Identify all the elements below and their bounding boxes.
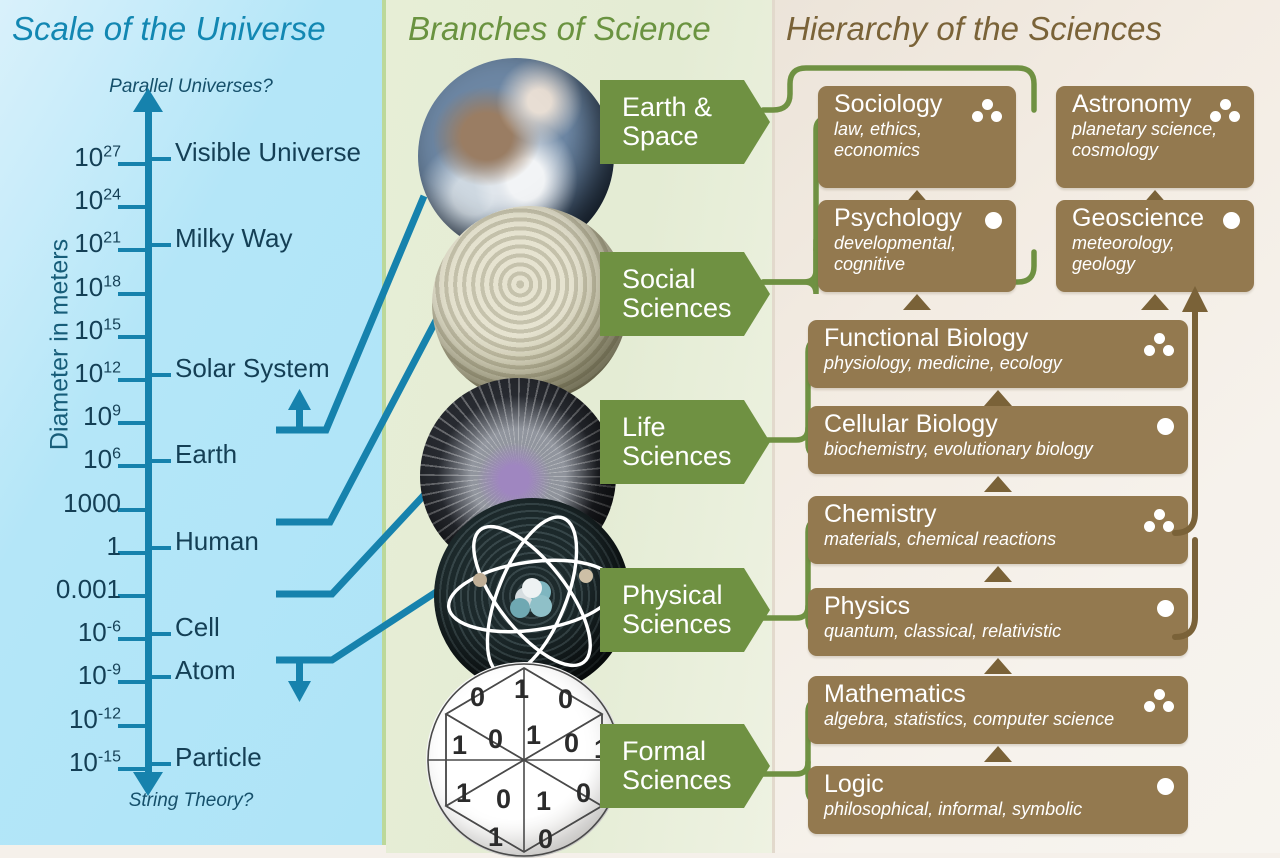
svg-text:0: 0 — [564, 728, 579, 758]
svg-text:1: 1 — [456, 778, 471, 808]
svg-text:1: 1 — [526, 720, 541, 750]
branch-label: Earth &Space — [622, 93, 712, 151]
branch-label: PhysicalSciences — [622, 581, 732, 639]
branch-label: SocialSciences — [622, 265, 732, 323]
svg-text:0: 0 — [558, 684, 573, 714]
binary-facets-icon: 010 101 01 101 0 10 — [426, 662, 622, 858]
svg-text:0: 0 — [496, 784, 511, 814]
svg-text:1: 1 — [514, 674, 529, 704]
svg-text:0: 0 — [538, 824, 553, 854]
binary-sphere-icon: 010 101 01 101 0 10 — [426, 662, 622, 858]
svg-text:0: 0 — [576, 778, 591, 808]
hierarchy-cross-connectors — [775, 0, 1280, 853]
branch-label: FormalSciences — [622, 737, 732, 795]
svg-text:0: 0 — [470, 682, 485, 712]
svg-text:1: 1 — [452, 730, 467, 760]
branch-label: LifeSciences — [622, 413, 732, 471]
infographic-canvas: Scale of the Universe Branches of Scienc… — [0, 0, 1280, 853]
svg-text:0: 0 — [488, 724, 503, 754]
geoscience-feed-arrow-icon — [1182, 286, 1208, 312]
svg-text:1: 1 — [488, 822, 503, 852]
svg-text:1: 1 — [536, 786, 551, 816]
brain-icon — [432, 206, 628, 402]
